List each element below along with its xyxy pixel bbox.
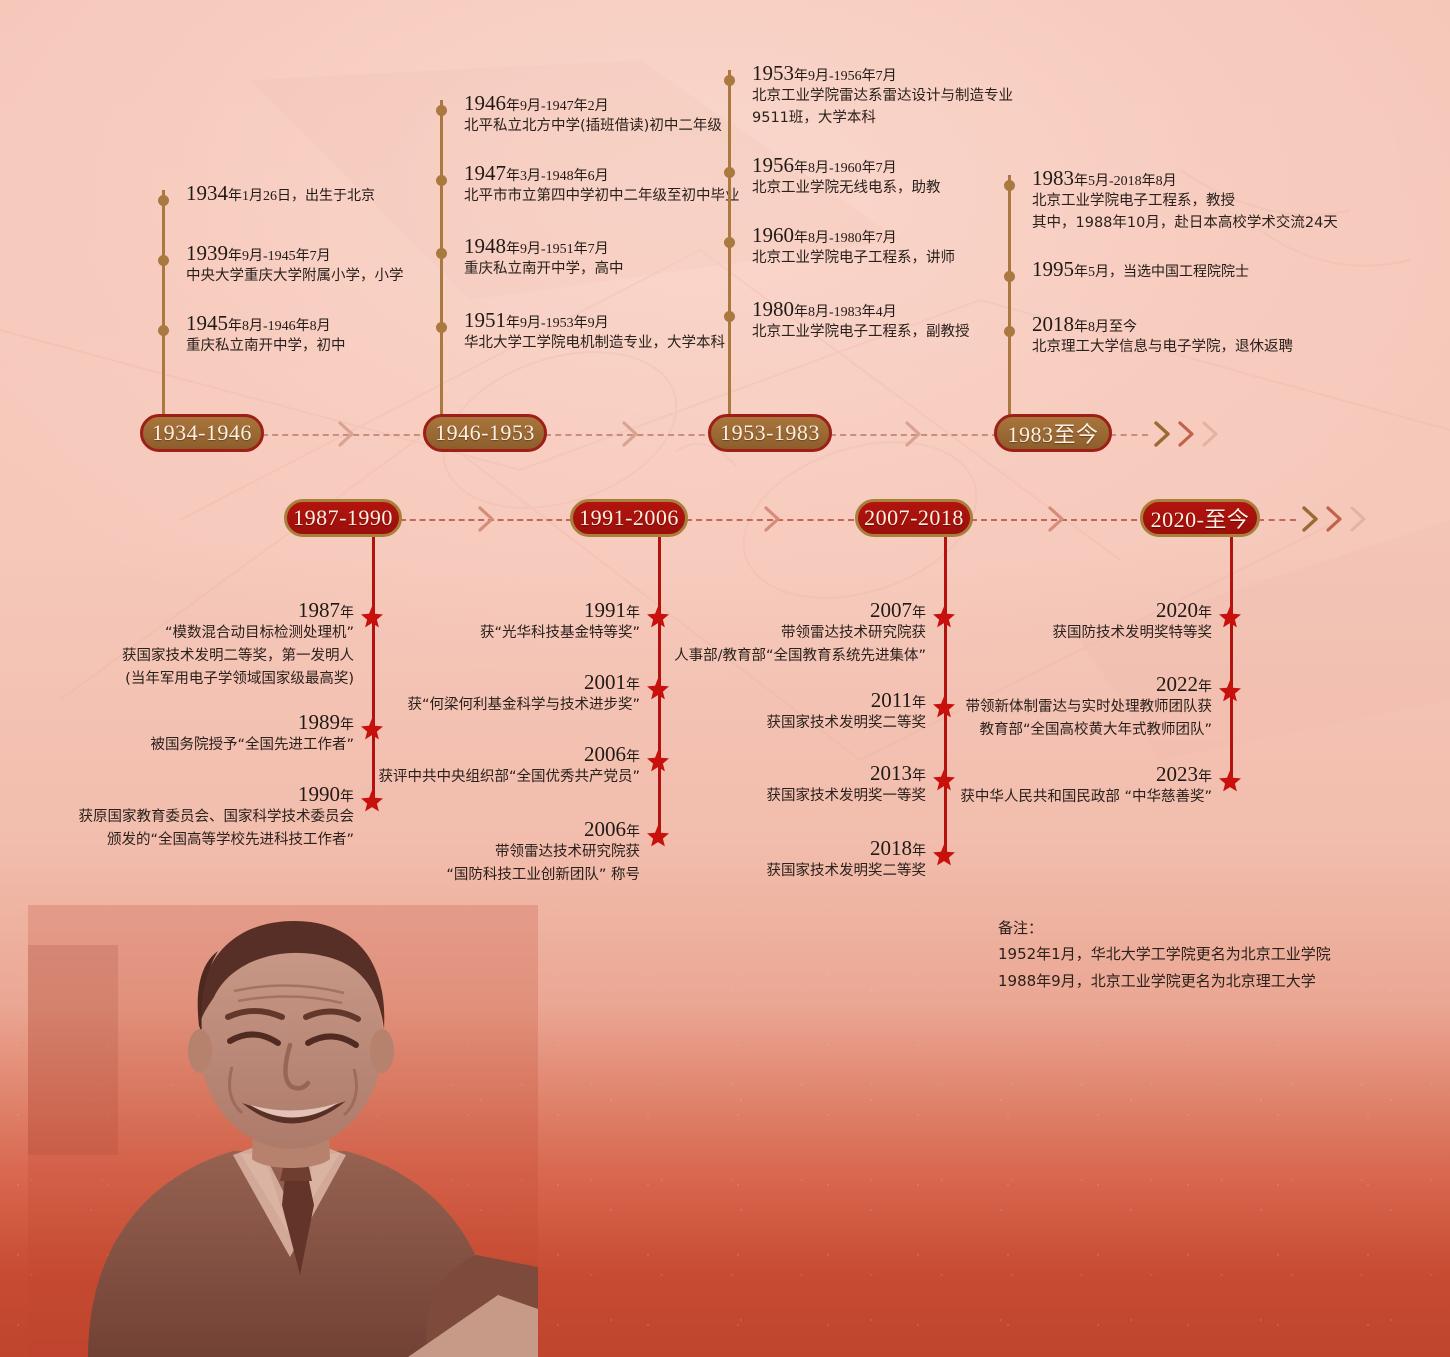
era-entry-desc: 北京工业学院无线电系，助教: [752, 177, 941, 199]
era-node: [436, 322, 447, 333]
award-entry: 2011年 获国家技术发明奖二等奖: [767, 689, 927, 735]
remark-title: 备注：: [998, 915, 1331, 941]
era-node: [158, 255, 169, 266]
award-entry: 2007年 带领雷达技术研究院获 人事部/教育部“全国教育系统先进集体”: [674, 599, 926, 668]
era-node: [436, 248, 447, 259]
era-entry-year: 1939年9月-1945年7月: [186, 242, 404, 265]
era-node: [1004, 271, 1015, 282]
award-entry-year: 2006年: [378, 743, 640, 766]
star-icon: [360, 717, 384, 741]
era-node: [158, 195, 169, 206]
award-entry: 2013年 获国家技术发明奖一等奖: [767, 762, 927, 808]
award-entry-desc: 被国务院授予“全国先进工作者”: [150, 734, 354, 757]
period-badge-2020-present[interactable]: 2020-至今: [1140, 499, 1260, 537]
star-icon: [360, 605, 384, 629]
award-entry-desc: 获评中共中央组织部“全国优秀共产党员”: [378, 766, 640, 789]
award-entry-desc: 获“光华科技基金特等奖”: [480, 622, 640, 645]
award-entry-desc: 颁发的“全国高等学校先进科技工作者”: [79, 829, 355, 852]
award-entry-desc: 获国家技术发明奖二等奖: [767, 712, 927, 735]
star-icon: [646, 749, 670, 773]
era-entry: 1953年9月-1956年7月 北京工业学院雷达系雷达设计与制造专业 9511班…: [752, 62, 1013, 130]
era-entry-desc: 北京理工大学信息与电子学院，退休返聘: [1032, 336, 1293, 358]
era-entry-year: 1946年9月-1947年2月: [464, 92, 722, 115]
award-stem: [1230, 537, 1233, 785]
award-entry: 2023年 获中华人民共和国民政部 “中华慈善奖”: [960, 763, 1212, 809]
era-entry: 2018年8月至今 北京理工大学信息与电子学院，退休返聘: [1032, 313, 1293, 358]
star-icon: [646, 605, 670, 629]
era-entry-year: 1934年1月26日，出生于北京: [186, 182, 375, 205]
era-entry: 1951年9月-1953年9月 华北大学工学院电机制造专业，大学本科: [464, 309, 725, 354]
award-entry-desc: “国防科技工业创新团队” 称号: [446, 864, 640, 887]
award-entry: 1987年 “模数混合动目标检测处理机” 获国家技术发明二等奖，第一发明人 (当…: [122, 599, 354, 692]
award-entry-year: 2011年: [767, 689, 927, 712]
era-entry-desc: 中央大学重庆大学附属小学，小学: [186, 265, 404, 287]
award-entry-year: 2018年: [767, 837, 927, 860]
star-icon: [646, 824, 670, 848]
award-entry-desc: 带领雷达技术研究院获: [446, 841, 640, 864]
era-entry-year: 2018年8月至今: [1032, 313, 1293, 336]
era-entry: 1946年9月-1947年2月 北平私立北方中学(插班借读)初中二年级: [464, 92, 722, 137]
era-entry-desc: 其中，1988年10月，赴日本高校学术交流24天: [1032, 212, 1338, 234]
era-entry: 1939年9月-1945年7月 中央大学重庆大学附属小学，小学: [186, 242, 404, 287]
period-badge-1983-present[interactable]: 1983至今: [994, 414, 1112, 452]
period-badge-1991-2006[interactable]: 1991-2006: [570, 499, 688, 537]
era-entry: 1956年8月-1960年7月 北京工业学院无线电系，助教: [752, 154, 941, 199]
star-icon: [932, 605, 956, 629]
award-entry-year: 2007年: [674, 599, 926, 622]
chevron-bottom-end-3: [1348, 506, 1368, 532]
award-entry: 2006年 带领雷达技术研究院获 “国防科技工业创新团队” 称号: [446, 818, 640, 887]
period-badge-1934-1946[interactable]: 1934-1946: [140, 414, 264, 452]
star-icon: [646, 677, 670, 701]
star-icon: [360, 789, 384, 813]
chevron-bottom-1: [476, 506, 496, 532]
era-entry-desc: 北京工业学院电子工程系，副教授: [752, 321, 970, 343]
award-entry: 1990年 获原国家教育委员会、国家科学技术委员会 颁发的“全国高等学校先进科技…: [79, 783, 355, 852]
period-badge-1987-1990[interactable]: 1987-1990: [284, 499, 402, 537]
chevron-bottom-end-1: [1300, 506, 1320, 532]
award-entry-desc: 人事部/教育部“全国教育系统先进集体”: [674, 645, 926, 668]
era-entry-year: 1995年5月，当选中国工程院院士: [1032, 258, 1249, 281]
award-entry-desc: “模数混合动目标检测处理机”: [122, 622, 354, 645]
era-entry: 1947年3月-1948年6月 北平市市立第四中学初中二年级至初中毕业: [464, 162, 740, 207]
award-entry-desc: 获中华人民共和国民政部 “中华慈善奖”: [960, 786, 1212, 809]
award-entry-year: 2022年: [966, 673, 1213, 696]
award-entry-desc: 教育部“全国高校黄大年式教师团队”: [966, 719, 1213, 742]
era-entry: 1995年5月，当选中国工程院院士: [1032, 258, 1249, 281]
award-entry: 2020年 获国防技术发明奖特等奖: [1053, 599, 1213, 645]
era-entry-desc: 9511班，大学本科: [752, 107, 1013, 129]
award-entry-desc: 获国防技术发明奖特等奖: [1053, 622, 1213, 645]
award-entry-desc: 带领新体制雷达与实时处理教师团队获: [966, 696, 1213, 719]
era-entry-year: 1945年8月-1946年8月: [186, 312, 346, 335]
era-entry-desc: 重庆私立南开中学，高中: [464, 258, 624, 280]
award-entry: 2022年 带领新体制雷达与实时处理教师团队获 教育部“全国高校黄大年式教师团队…: [966, 673, 1213, 742]
star-icon: [1218, 769, 1242, 793]
chevron-bottom-2: [762, 506, 782, 532]
award-entry-desc: 带领雷达技术研究院获: [674, 622, 926, 645]
era-entry: 1934年1月26日，出生于北京: [186, 182, 375, 205]
award-entry-desc: 获国家技术发明二等奖，第一发明人: [122, 645, 354, 668]
award-entry-desc: 获国家技术发明奖二等奖: [767, 860, 927, 883]
award-entry-year: 2020年: [1053, 599, 1213, 622]
era-entry-year: 1953年9月-1956年7月: [752, 62, 1013, 85]
period-badge-1953-1983[interactable]: 1953-1983: [708, 414, 832, 452]
era-entry-desc: 北京工业学院雷达系雷达设计与制造专业: [752, 85, 1013, 107]
era-stem: [1008, 175, 1011, 415]
award-entry-year: 2023年: [960, 763, 1212, 786]
period-badge-1946-1953[interactable]: 1946-1953: [423, 414, 547, 452]
award-entry: 2018年 获国家技术发明奖二等奖: [767, 837, 927, 883]
era-node: [1004, 326, 1015, 337]
rail-bottom-4: [1258, 519, 1296, 521]
era-entry-year: 1951年9月-1953年9月: [464, 309, 725, 332]
era-node: [436, 175, 447, 186]
era-stem: [162, 190, 165, 415]
chevron-bottom-end-2: [1324, 506, 1344, 532]
award-entry: 1989年 被国务院授予“全国先进工作者”: [150, 711, 354, 757]
era-entry-year: 1956年8月-1960年7月: [752, 154, 941, 177]
chevron-bottom-3: [1046, 506, 1066, 532]
era-entry: 1945年8月-1946年8月 重庆私立南开中学，初中: [186, 312, 346, 357]
era-entry: 1960年8月-1980年7月 北京工业学院电子工程系，讲师: [752, 224, 955, 269]
era-entry: 1983年5月-2018年8月 北京工业学院电子工程系，教授 其中，1988年1…: [1032, 167, 1338, 235]
era-entry-year: 1983年5月-2018年8月: [1032, 167, 1338, 190]
award-entry-desc: (当年军用电子学领域国家级最高奖): [122, 668, 354, 691]
era-entry-year: 1980年8月-1983年4月: [752, 298, 970, 321]
award-entry-desc: 获国家技术发明奖一等奖: [767, 785, 927, 808]
era-entry-desc: 北京工业学院电子工程系，讲师: [752, 247, 955, 269]
era-entry-year: 1947年3月-1948年6月: [464, 162, 740, 185]
era-node: [158, 325, 169, 336]
award-entry: 1991年 获“光华科技基金特等奖”: [480, 599, 640, 645]
era-entry-year: 1948年9月-1951年7月: [464, 235, 624, 258]
era-node: [724, 237, 735, 248]
era-entry-year: 1960年8月-1980年7月: [752, 224, 955, 247]
star-icon: [1218, 605, 1242, 629]
award-entry-year: 2006年: [446, 818, 640, 841]
period-badge-2007-2018[interactable]: 2007-2018: [855, 499, 973, 537]
award-entry-desc: 获“何梁何利基金科学与技术进步奖”: [407, 694, 640, 717]
award-entry-year: 1987年: [122, 599, 354, 622]
era-node: [724, 167, 735, 178]
era-entry-desc: 北平私立北方中学(插班借读)初中二年级: [464, 115, 722, 137]
era-node: [724, 311, 735, 322]
star-icon: [932, 768, 956, 792]
era-entry-desc: 北京工业学院电子工程系，教授: [1032, 190, 1338, 212]
award-entry-year: 1989年: [150, 711, 354, 734]
award-entry-year: 1991年: [480, 599, 640, 622]
star-icon: [1218, 679, 1242, 703]
era-entry-desc: 重庆私立南开中学，初中: [186, 335, 346, 357]
era-node: [724, 75, 735, 86]
award-entry-year: 2013年: [767, 762, 927, 785]
award-entry: 2001年 获“何梁何利基金科学与技术进步奖”: [407, 671, 640, 717]
remark-line: 1952年1月，华北大学工学院更名为北京工业学院: [998, 941, 1331, 967]
award-entry-year: 2001年: [407, 671, 640, 694]
era-entry: 1948年9月-1951年7月 重庆私立南开中学，高中: [464, 235, 624, 280]
era-entry-desc: 华北大学工学院电机制造专业，大学本科: [464, 332, 725, 354]
star-icon: [932, 843, 956, 867]
era-entry-desc: 北平市市立第四中学初中二年级至初中毕业: [464, 185, 740, 207]
remark-block: 备注： 1952年1月，华北大学工学院更名为北京工业学院 1988年9月，北京工…: [998, 915, 1331, 994]
award-entry: 2006年 获评中共中央组织部“全国优秀共产党员”: [378, 743, 640, 789]
award-stem: [372, 537, 375, 805]
award-entry-desc: 获原国家教育委员会、国家科学技术委员会: [79, 806, 355, 829]
remark-line: 1988年9月，北京工业学院更名为北京理工大学: [998, 968, 1331, 994]
award-entry-year: 1990年: [79, 783, 355, 806]
era-node: [436, 105, 447, 116]
star-icon: [932, 695, 956, 719]
era-entry: 1980年8月-1983年4月 北京工业学院电子工程系，副教授: [752, 298, 970, 343]
era-node: [1004, 180, 1015, 191]
